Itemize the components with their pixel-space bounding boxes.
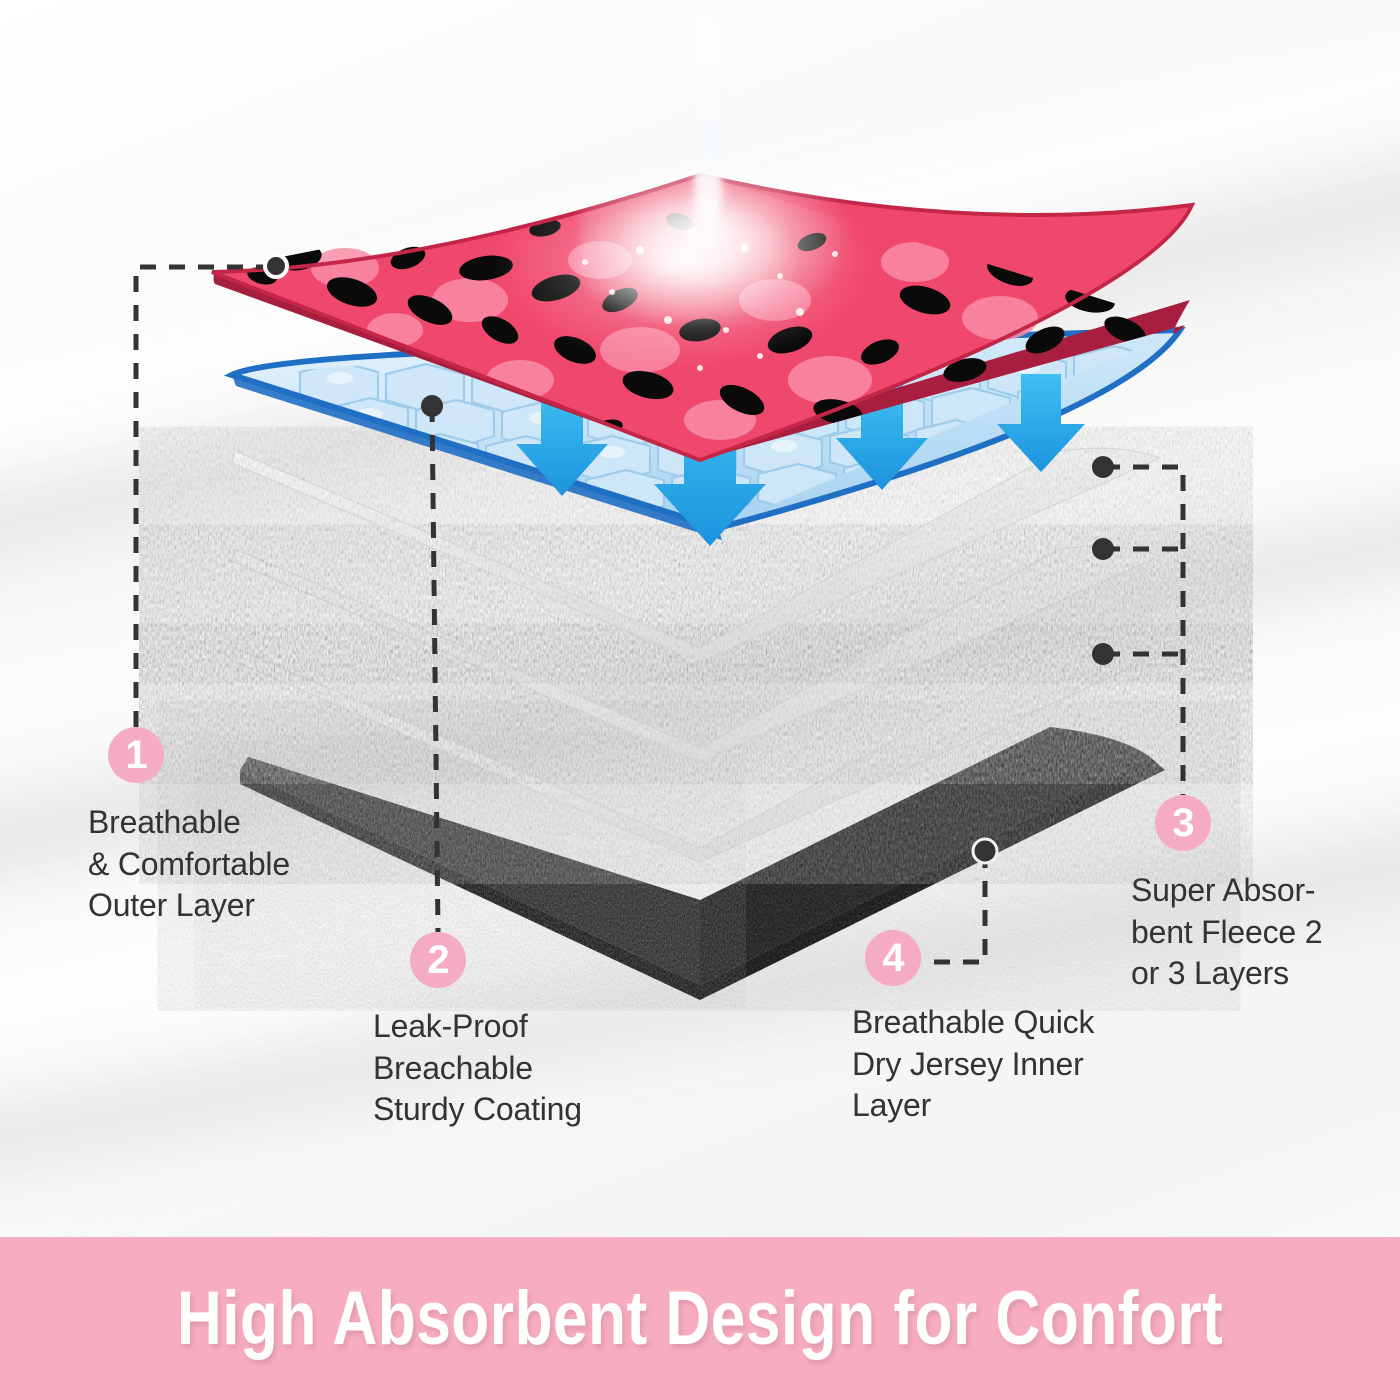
connector-2	[432, 406, 438, 932]
anchor-dot-fleece-1	[1092, 456, 1114, 478]
anchor-dot-fleece-3	[1092, 643, 1114, 665]
callout-text-1: Breathable & Comfortable Outer Layer	[88, 802, 418, 927]
badge-3[interactable]: 3	[1155, 795, 1211, 851]
badge-2[interactable]: 2	[410, 932, 466, 988]
anchor-dots	[265, 255, 1114, 863]
callout-text-3: Super Absor- bent Fleece 2 or 3 Layers	[1131, 870, 1386, 995]
bottom-banner: High Absorbent Design for Confort	[0, 1237, 1400, 1400]
anchor-dot-fleece-2	[1092, 538, 1114, 560]
callout-text-2: Leak-Proof Breachable Sturdy Coating	[373, 1006, 703, 1131]
annotation-layer: 1 2 3 4 Breathable & Comfortable Outer L…	[0, 0, 1400, 1240]
anchor-dot-inner	[973, 839, 997, 863]
connector-3a	[1104, 467, 1183, 795]
banner-headline: High Absorbent Design for Confort	[177, 1275, 1223, 1362]
connector-4	[921, 852, 985, 962]
badge-1[interactable]: 1	[108, 727, 164, 783]
anchor-dot-outer	[265, 255, 287, 277]
callout-text-4: Breathable Quick Dry Jersey Inner Layer	[852, 1002, 1162, 1127]
anchor-dot-coating	[421, 395, 443, 417]
infographic-canvas: 1 2 3 4 Breathable & Comfortable Outer L…	[0, 0, 1400, 1400]
connector-1	[136, 267, 272, 727]
badge-4[interactable]: 4	[865, 930, 921, 986]
